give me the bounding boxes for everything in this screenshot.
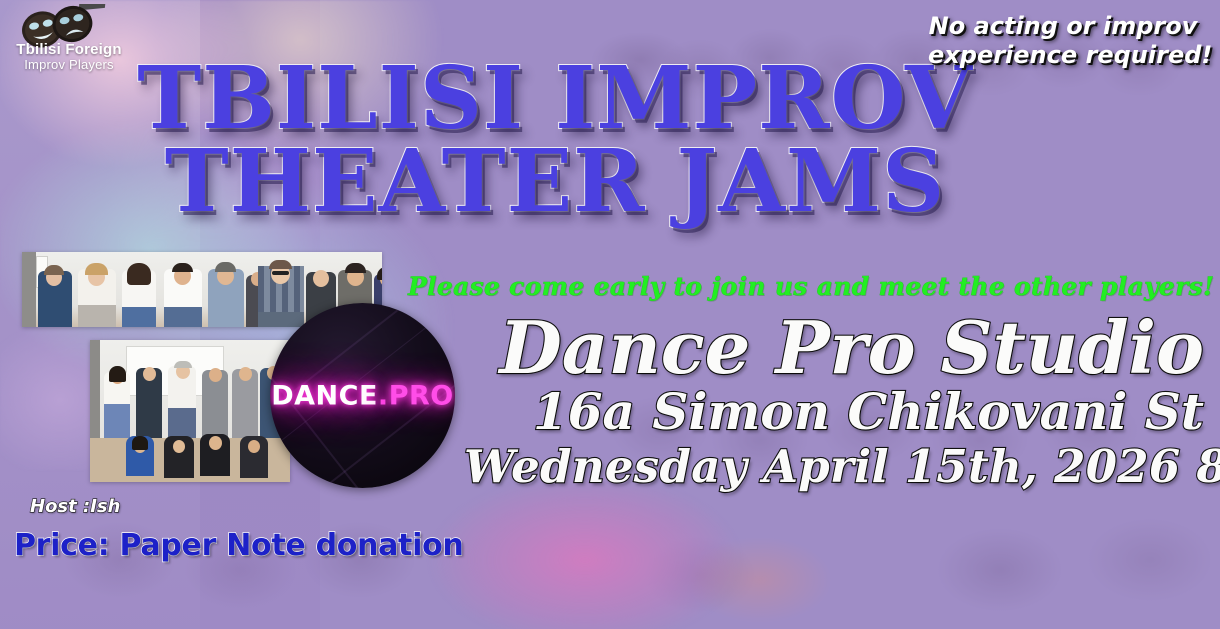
improv-group-photo-square bbox=[90, 340, 290, 482]
dance-pro-dot: . bbox=[378, 380, 389, 411]
logo-text: Tbilisi Foreign Improv Players bbox=[6, 42, 132, 71]
venue-datetime: Wednesday April 15th, 2026 8-10pm bbox=[464, 440, 1204, 494]
logo-line2: Improv Players bbox=[6, 58, 132, 72]
background-warm-glow bbox=[660, 520, 860, 629]
venue-name: Dance Pro Studio bbox=[464, 312, 1204, 384]
poster-headline: TBILISI IMPROV THEATER JAMS bbox=[120, 58, 990, 223]
dance-pro-main: DANCE bbox=[271, 380, 378, 411]
no-experience-note: No acting or improv experience required! bbox=[928, 12, 1198, 70]
venue-address: 16a Simon Chikovani St bbox=[464, 384, 1204, 440]
event-poster: Tbilisi Foreign Improv Players TBILISI I… bbox=[0, 0, 1220, 629]
price-label: Price: Paper Note donation bbox=[14, 528, 463, 563]
note-line1: No acting or improv bbox=[928, 12, 1198, 41]
dance-pro-accent: PRO bbox=[389, 380, 454, 411]
brand-logo: Tbilisi Foreign Improv Players bbox=[4, 2, 134, 82]
invitation-text: Please come early to join us and meet th… bbox=[408, 272, 1214, 301]
dance-pro-logo: DANCE.PRO bbox=[270, 303, 455, 488]
host-label: Host :Ish bbox=[30, 496, 120, 517]
dance-pro-wordmark: DANCE.PRO bbox=[270, 380, 455, 411]
note-line2: experience required! bbox=[928, 41, 1198, 70]
headline-line2: THEATER JAMS bbox=[120, 141, 990, 224]
venue-info: Dance Pro Studio 16a Simon Chikovani St … bbox=[464, 312, 1204, 494]
logo-line1: Tbilisi Foreign bbox=[6, 42, 132, 58]
